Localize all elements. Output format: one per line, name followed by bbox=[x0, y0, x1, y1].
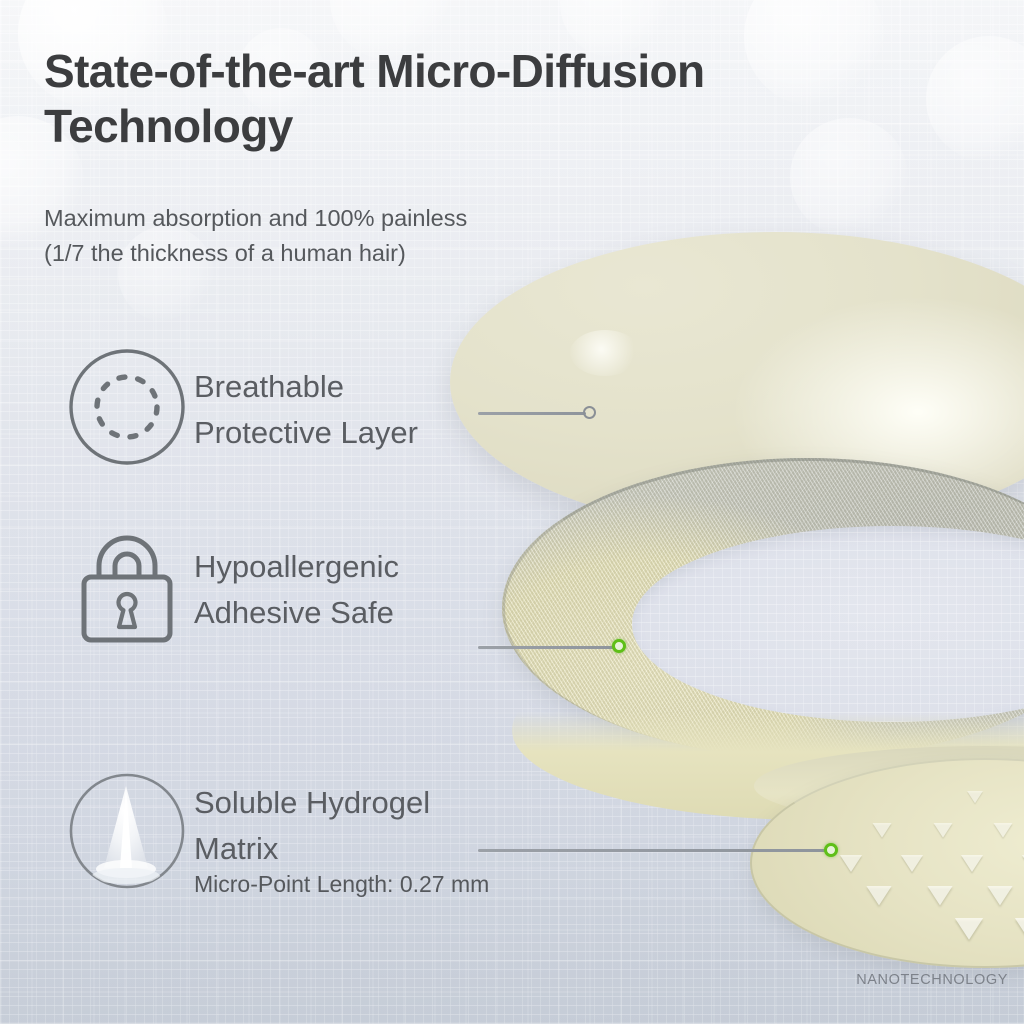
callout-line-hypoallergenic-adhesive-safe bbox=[478, 646, 618, 649]
microneedle-cone-icon bbox=[68, 772, 186, 890]
callout-marker-ring bbox=[583, 406, 596, 419]
feature-item-hypoallergenic-adhesive-safe[interactable]: Hypoallergenic Adhesive Safe bbox=[68, 528, 399, 646]
dashed-circle-breathable-icon bbox=[68, 348, 186, 466]
feature-sublabel: Micro-Point Length: 0.27 mm bbox=[194, 870, 489, 900]
feature-item-breathable-protective-layer[interactable]: Breathable Protective Layer bbox=[68, 348, 418, 466]
feature-text-group: Hypoallergenic Adhesive Safe bbox=[194, 528, 399, 636]
feature-item-soluble-hydrogel-matrix[interactable]: Soluble Hydrogel Matrix Micro-Point Leng… bbox=[68, 772, 489, 900]
feature-label: Hypoallergenic Adhesive Safe bbox=[194, 544, 399, 636]
callout-marker-green-dot bbox=[824, 843, 838, 857]
feature-label: Breathable Protective Layer bbox=[194, 364, 418, 456]
callout-marker-green-dot bbox=[612, 639, 626, 653]
padlock-icon bbox=[68, 528, 186, 646]
protective-layer-highlight bbox=[570, 330, 640, 376]
feature-text-group: Breathable Protective Layer bbox=[194, 348, 418, 456]
watermark-label: NANOTECHNOLOGY bbox=[856, 972, 1008, 988]
header: State-of-the-art Micro-Diffusion Technol… bbox=[44, 44, 924, 270]
micro-needle-patch-illustration bbox=[420, 210, 1024, 970]
feature-label: Soluble Hydrogel Matrix bbox=[194, 780, 489, 872]
page-title: State-of-the-art Micro-Diffusion Technol… bbox=[44, 44, 924, 153]
page-subtitle: Maximum absorption and 100% painless (1/… bbox=[44, 201, 924, 269]
feature-text-group: Soluble Hydrogel Matrix Micro-Point Leng… bbox=[194, 772, 489, 900]
callout-line-breathable-protective-layer bbox=[478, 412, 586, 415]
infographic-canvas: State-of-the-art Micro-Diffusion Technol… bbox=[0, 0, 1024, 1024]
callout-line-soluble-hydrogel-matrix bbox=[478, 849, 830, 852]
